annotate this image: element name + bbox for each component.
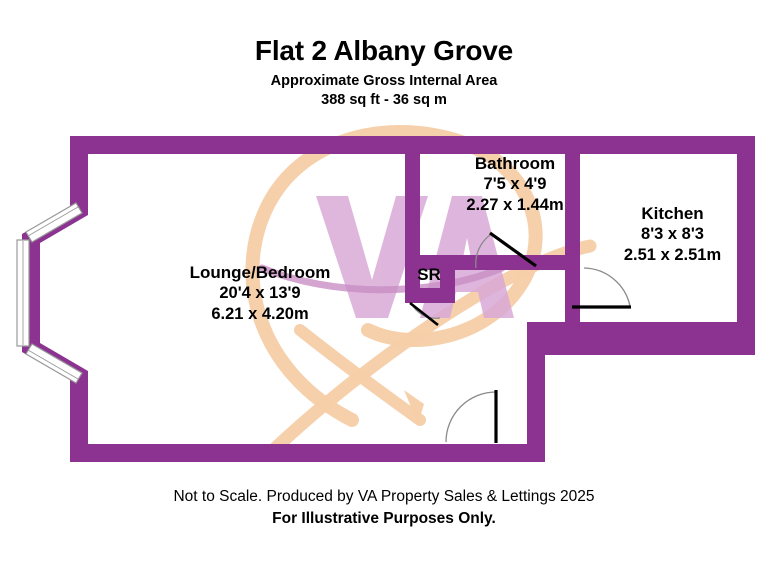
- room-label-bathroom: Bathroom 7'5 x 4'9 2.27 x 1.44m: [420, 153, 610, 216]
- footer-disclaimer-illustrative: For Illustrative Purposes Only.: [0, 508, 768, 529]
- room-label-lounge-bedroom: Lounge/Bedroom 20'4 x 13'9 6.21 x 4.20m: [125, 262, 395, 325]
- bay-window-pane-middle: [17, 240, 29, 346]
- bay-window: [17, 203, 82, 383]
- page-footer: Not to Scale. Produced by VA Property Sa…: [0, 486, 768, 529]
- room-name: Lounge/Bedroom: [125, 262, 395, 283]
- sr-bottom-wall: [405, 288, 455, 303]
- floorplan-page: Flat 2 Albany Grove Approximate Gross In…: [0, 0, 768, 576]
- footer-disclaimer-producer: Not to Scale. Produced by VA Property Sa…: [0, 486, 768, 507]
- entrance-door: [446, 390, 496, 443]
- kitchen-door: [572, 268, 631, 307]
- room-name: Kitchen: [585, 203, 760, 224]
- room-name: Bathroom: [420, 153, 610, 174]
- room-dimensions-imperial: 8'3 x 8'3: [585, 224, 760, 245]
- store-room-label: SR: [406, 264, 452, 286]
- room-dimensions-metric: 6.21 x 4.20m: [125, 304, 395, 325]
- room-label-kitchen: Kitchen 8'3 x 8'3 2.51 x 2.51m: [585, 203, 760, 266]
- room-dimensions-imperial: 20'4 x 13'9: [125, 283, 395, 304]
- room-dimensions-imperial: 7'5 x 4'9: [420, 174, 610, 195]
- room-dimensions-metric: 2.51 x 2.51m: [585, 245, 760, 266]
- room-dimensions-metric: 2.27 x 1.44m: [420, 195, 610, 216]
- kitchen-bottom-wall: [527, 322, 737, 337]
- kitchen-left-lower-wall: [565, 270, 580, 322]
